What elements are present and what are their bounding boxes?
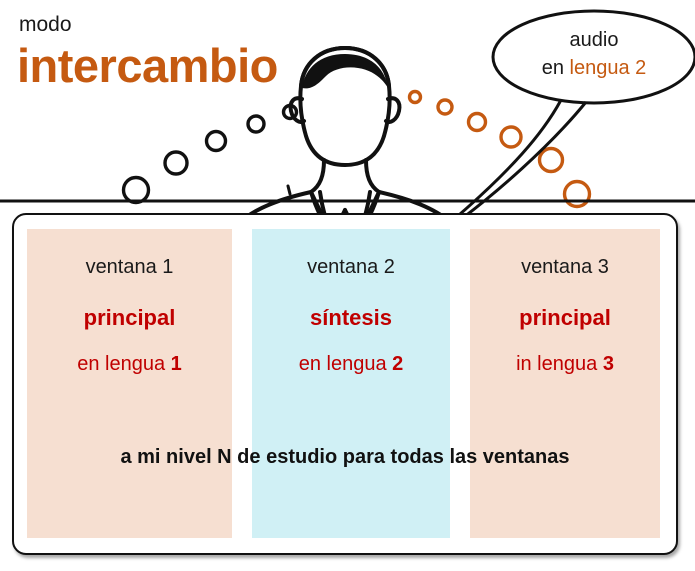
window-column-2-language-prefix: en lengua: [299, 353, 392, 375]
speech-bubble-line-2: en lengua 2: [506, 54, 682, 82]
black-circles-trail: [124, 106, 297, 203]
window-column-2-content: ventana 2 síntesis en lengua 2: [252, 257, 450, 374]
window-column-2-language-number: 2: [392, 353, 403, 375]
window-column-2-role: síntesis: [252, 307, 450, 329]
page-eyebrow: modo: [19, 14, 72, 35]
speech-bubble-line-1: audio: [506, 26, 682, 54]
page-title: intercambio: [17, 42, 278, 89]
window-column-1-role: principal: [27, 307, 232, 329]
window-column-2[interactable]: ventana 2 síntesis en lengua 2: [252, 229, 450, 538]
window-column-3-content: ventana 3 principal in lengua 3: [470, 257, 660, 374]
speech-bubble-line-2-prefix: en: [542, 57, 570, 79]
speech-bubble-text: audio en lengua 2: [506, 26, 682, 83]
window-column-1-language-prefix: en lengua: [77, 353, 170, 375]
window-column-3-role: principal: [470, 307, 660, 329]
orange-circles-trail: [410, 92, 590, 207]
window-column-2-language: en lengua 2: [252, 354, 450, 374]
window-column-2-title: ventana 2: [252, 257, 450, 277]
window-column-1-language: en lengua 1: [27, 354, 232, 374]
window-column-1-language-number: 1: [171, 353, 182, 375]
window-column-3-language: in lengua 3: [470, 354, 660, 374]
panel-footer-note: a mi nivel N de estudio para todas las v…: [12, 447, 678, 467]
window-column-3-title: ventana 3: [470, 257, 660, 277]
speech-bubble-line-2-accent: lengua 2: [570, 57, 647, 79]
window-column-3-language-prefix: in lengua: [516, 353, 603, 375]
window-column-3-language-number: 3: [603, 353, 614, 375]
window-column-3[interactable]: ventana 3 principal in lengua 3: [470, 229, 660, 538]
window-column-1[interactable]: ventana 1 principal en lengua 1: [27, 229, 232, 538]
diagram-canvas: modo intercambio: [0, 0, 695, 571]
window-column-1-title: ventana 1: [27, 257, 232, 277]
window-column-1-content: ventana 1 principal en lengua 1: [27, 257, 232, 374]
